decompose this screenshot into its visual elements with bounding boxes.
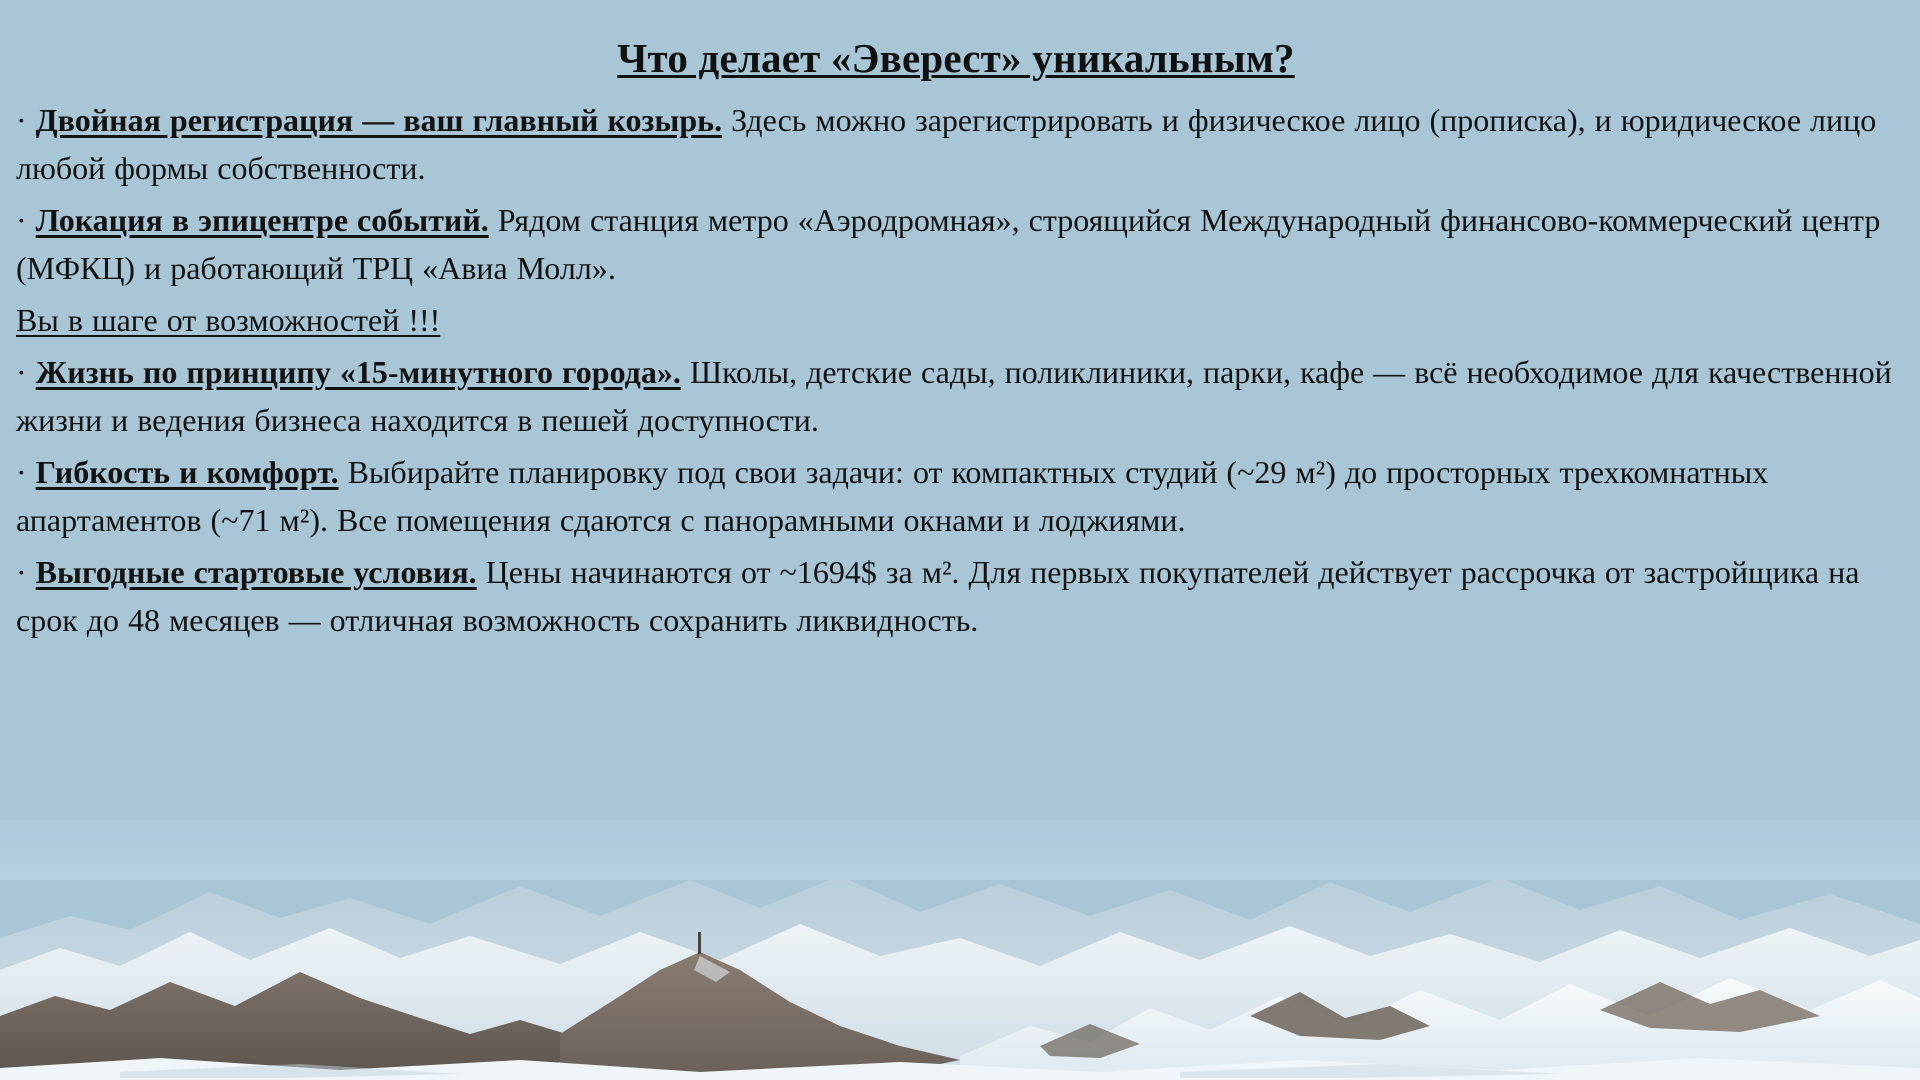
page-title: Что делает «Эверест» уникальным?	[16, 34, 1896, 82]
callout-line: Вы в шаге от возможностей !!!	[16, 296, 1896, 344]
bullet-item: · Выгодные стартовые условия. Цены начин…	[16, 548, 1896, 644]
bullet-marker: ·	[16, 202, 27, 238]
bullet-lead: Локация в эпицентре событий.	[36, 202, 489, 238]
bullet-marker: ·	[16, 102, 27, 138]
bullet-item: · Двойная регистрация — ваш главный козы…	[16, 96, 1896, 192]
photo-sky-gradient	[0, 820, 1920, 880]
page-title-text: Что делает «Эверест» уникальным?	[617, 35, 1294, 81]
bullet-lead: Выгодные стартовые условия.	[36, 554, 477, 590]
bullet-marker: ·	[16, 354, 27, 390]
mountain-photo	[0, 820, 1920, 1080]
bullet-lead: Гибкость и комфорт.	[36, 454, 339, 490]
bullet-lead: Жизнь по принципу «15-минутного города».	[36, 354, 681, 390]
bullet-item: · Жизнь по принципу «15-минутного города…	[16, 348, 1896, 444]
bullet-lead: Двойная регистрация — ваш главный козырь…	[36, 102, 722, 138]
slide: Что делает «Эверест» уникальным? · Двойн…	[0, 0, 1920, 1080]
bullet-marker: ·	[16, 454, 27, 490]
callout-text: Вы в шаге от возможностей !!!	[16, 296, 440, 344]
bullet-marker: ·	[16, 554, 27, 590]
bullet-item: · Гибкость и комфорт. Выбирайте планиров…	[16, 448, 1896, 544]
slide-content: Что делает «Эверест» уникальным? · Двойн…	[0, 0, 1920, 648]
bullet-item: · Локация в эпицентре событий. Рядом ста…	[16, 196, 1896, 292]
